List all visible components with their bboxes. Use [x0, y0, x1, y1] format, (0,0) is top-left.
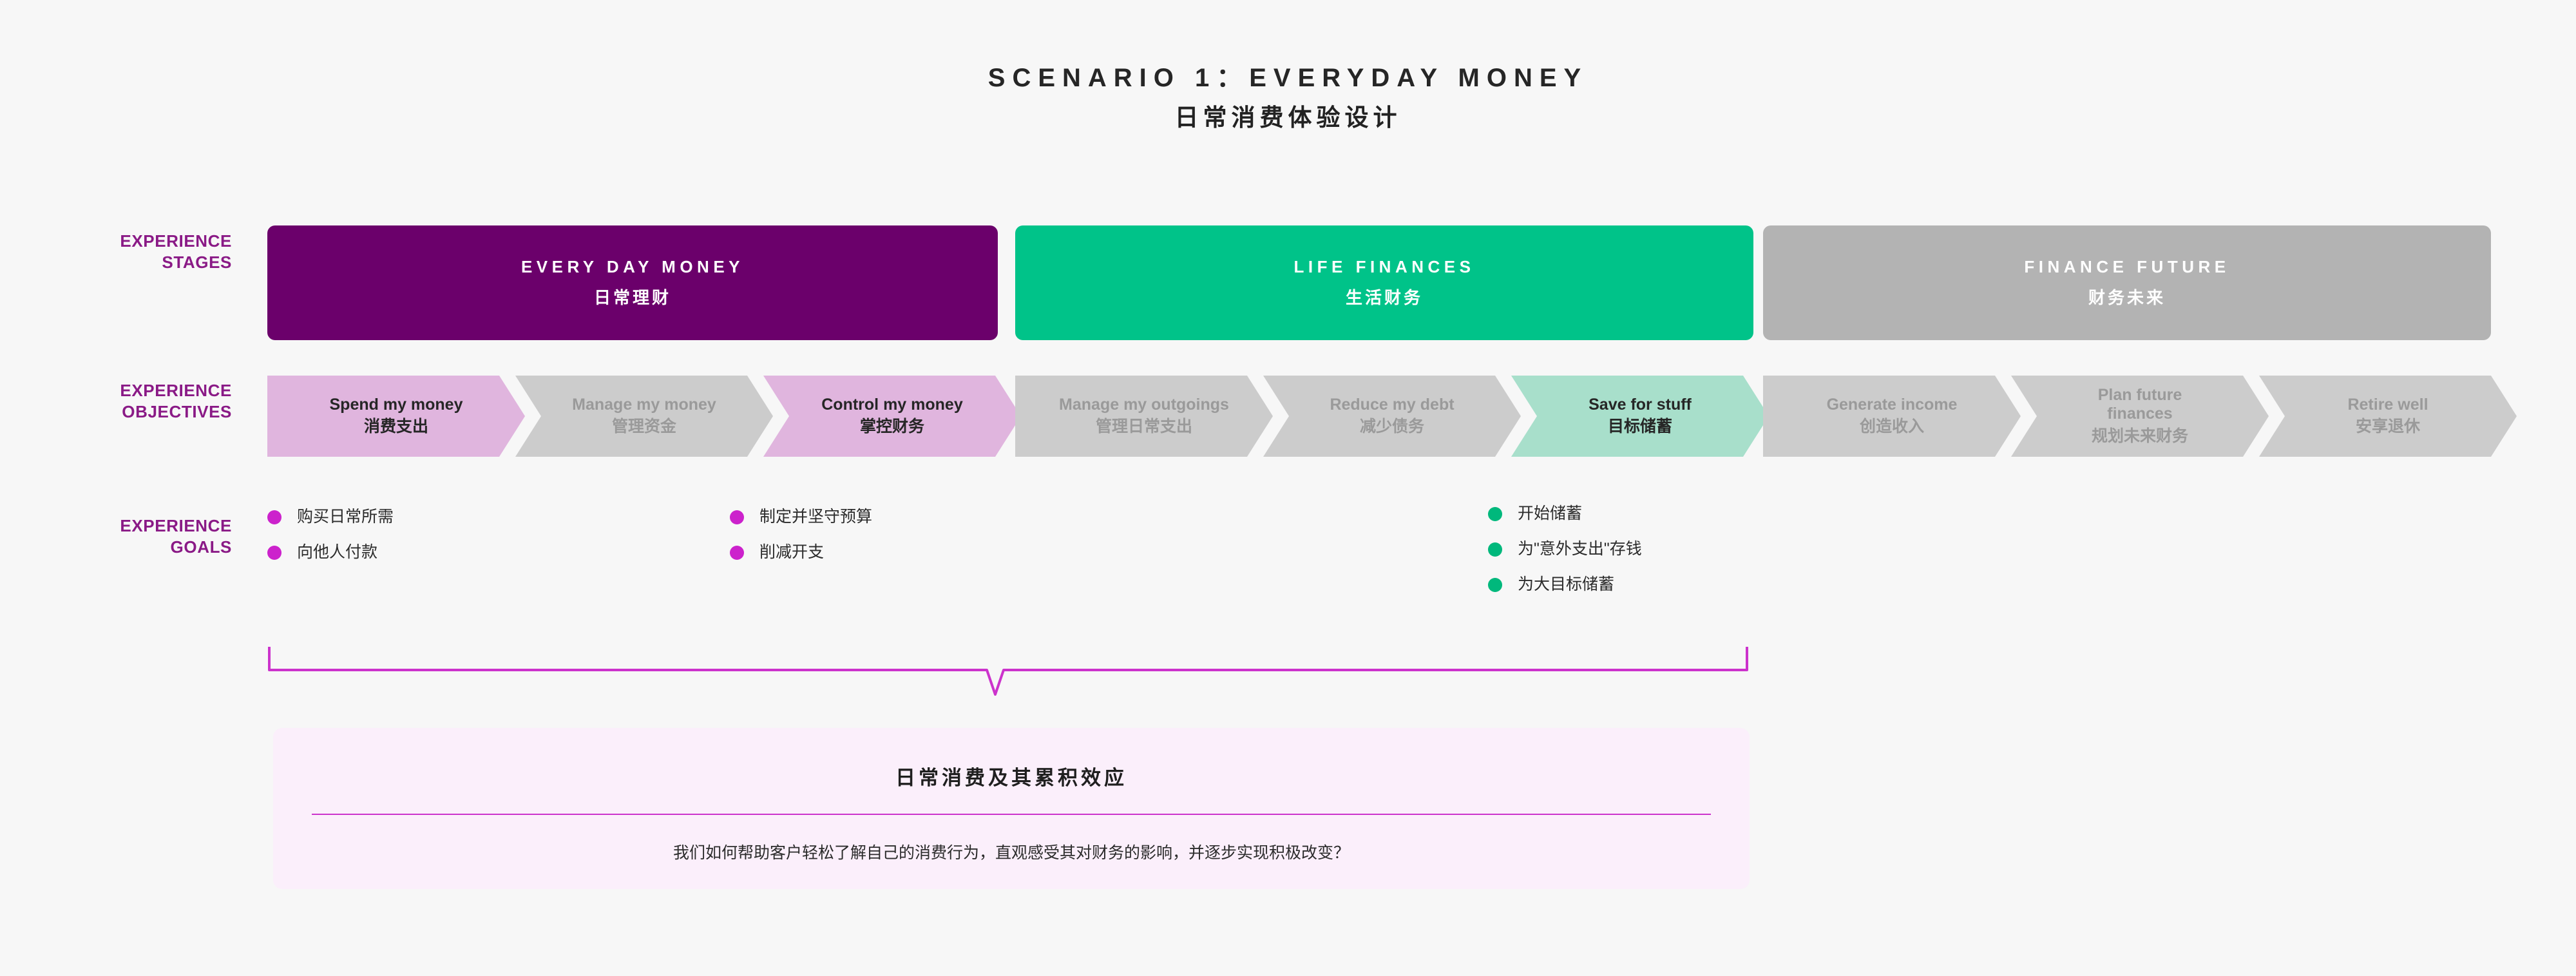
stage-bar-every-day-money[interactable]: EVERY DAY MONEY 日常理财	[267, 225, 998, 340]
goal-item[interactable]: 开始储蓄	[1488, 506, 1642, 522]
bracket-connector	[264, 644, 1759, 725]
callout-title: 日常消费及其累积效应	[312, 761, 1711, 790]
objective-label-en-4: Reduce my debt	[1330, 396, 1454, 415]
objective-label-cn-1: 管理资金	[612, 417, 676, 437]
goal-item[interactable]: 为大目标储蓄	[1488, 577, 1642, 593]
row-label-experience-goals: EXPERIENCE GOALS	[39, 515, 232, 558]
objective-chevron-control-my-money[interactable]: Control my money 掌控财务	[763, 376, 1021, 457]
stage-bar-life-finances[interactable]: LIFE FINANCES 生活财务	[1015, 225, 1753, 340]
objectives-row: Spend my money 消费支出 Manage my money 管理资金…	[0, 376, 2576, 457]
stage-label-en-0: EVERY DAY MONEY	[521, 257, 744, 277]
goal-bullet-icon	[267, 510, 281, 524]
goal-label: 向他人付款	[297, 544, 377, 560]
goal-item[interactable]: 购买日常所需	[267, 509, 394, 525]
objective-label-en-2: Control my money	[821, 396, 962, 415]
objective-label-en-3: Manage my outgoings	[1059, 396, 1229, 415]
goal-item[interactable]: 向他人付款	[267, 544, 394, 560]
objective-chevron-save-for-stuff[interactable]: Save for stuff 目标储蓄	[1511, 376, 1769, 457]
stage-label-cn-1: 生活财务	[1346, 285, 1423, 309]
page-title: SCENARIO 1：EVERYDAY MONEY 日常消费体验设计	[0, 62, 2576, 134]
goal-bullet-icon	[267, 546, 281, 560]
goal-bullet-icon	[1488, 542, 1502, 557]
stage-label-cn-0: 日常理财	[594, 285, 671, 309]
objective-label-cn-4: 减少债务	[1360, 417, 1424, 437]
objective-label-en-5: Save for stuff	[1589, 396, 1692, 415]
objective-label-cn-8: 安享退休	[2356, 417, 2420, 437]
goal-bullet-icon	[1488, 578, 1502, 592]
page-title-en: SCENARIO 1：EVERYDAY MONEY	[0, 62, 2576, 94]
stage-label-cn-2: 财务未来	[2088, 285, 2166, 309]
row-label-stages-line1: EXPERIENCE	[39, 231, 232, 252]
objective-chevron-plan-future-finances[interactable]: Plan future finances 规划未来财务	[2011, 376, 2269, 457]
row-label-experience-stages: EXPERIENCE STAGES	[39, 231, 232, 273]
callout-body: 我们如何帮助客户轻松了解自己的消费行为，直观感受其对财务的影响，并逐步实现积极改…	[312, 842, 1711, 865]
stage-label-en-1: LIFE FINANCES	[1294, 257, 1475, 277]
objective-chevron-spend-my-money[interactable]: Spend my money 消费支出	[267, 376, 525, 457]
objective-label-en-8: Retire well	[2347, 396, 2428, 415]
bracket-connector-icon	[264, 644, 1759, 722]
objective-chevron-manage-my-outgoings[interactable]: Manage my outgoings 管理日常支出	[1015, 376, 1273, 457]
goal-bullet-icon	[730, 546, 744, 560]
objective-label-en-6: Generate income	[1827, 396, 1958, 415]
objective-label-en-1: Manage my money	[572, 396, 716, 415]
goal-label: 为"意外支出"存钱	[1518, 541, 1642, 557]
objective-label-cn-5: 目标储蓄	[1608, 417, 1672, 437]
goal-label: 购买日常所需	[297, 509, 394, 525]
goal-item[interactable]: 制定并坚守预算	[730, 509, 872, 525]
goal-bullet-icon	[1488, 507, 1502, 521]
objective-label-cn-3: 管理日常支出	[1096, 417, 1192, 437]
goal-item[interactable]: 为"意外支出"存钱	[1488, 541, 1642, 557]
goals-column-2: 制定并坚守预算 削减开支	[730, 509, 872, 580]
objective-label-cn-7: 规划未来财务	[2092, 426, 2188, 446]
page-title-cn: 日常消费体验设计	[0, 102, 2576, 134]
goal-label: 为大目标储蓄	[1518, 577, 1614, 593]
journey-map-board: SCENARIO 1：EVERYDAY MONEY 日常消费体验设计 EXPER…	[0, 0, 2576, 976]
goal-bullet-icon	[730, 510, 744, 524]
objective-label-en-7: Plan future finances	[2066, 386, 2214, 424]
goal-label: 削减开支	[759, 544, 824, 560]
objective-label-cn-0: 消费支出	[364, 417, 428, 437]
objective-label-en-0: Spend my money	[330, 396, 463, 415]
objective-chevron-retire-well[interactable]: Retire well 安享退休	[2259, 376, 2517, 457]
goal-label: 制定并坚守预算	[759, 509, 872, 525]
goals-column-3: 开始储蓄 为"意外支出"存钱 为大目标储蓄	[1488, 506, 1642, 612]
goal-label: 开始储蓄	[1518, 506, 1582, 522]
callout-divider	[312, 814, 1711, 815]
stage-bar-finance-future[interactable]: FINANCE FUTURE 财务未来	[1763, 225, 2491, 340]
row-label-stages-line2: STAGES	[39, 252, 232, 273]
objective-label-cn-2: 掌控财务	[860, 417, 924, 437]
row-label-goals-line1: EXPERIENCE	[39, 515, 232, 537]
goals-column-1: 购买日常所需 向他人付款	[267, 509, 394, 580]
objective-label-cn-6: 创造收入	[1860, 417, 1924, 437]
objective-chevron-reduce-my-debt[interactable]: Reduce my debt 减少债务	[1263, 376, 1521, 457]
goal-item[interactable]: 削减开支	[730, 544, 872, 560]
row-label-goals-line2: GOALS	[39, 537, 232, 558]
stage-label-en-2: FINANCE FUTURE	[2024, 257, 2229, 277]
objective-chevron-manage-my-money[interactable]: Manage my money 管理资金	[515, 376, 773, 457]
callout-card: 日常消费及其累积效应 我们如何帮助客户轻松了解自己的消费行为，直观感受其对财务的…	[273, 728, 1750, 889]
objective-chevron-generate-income[interactable]: Generate income 创造收入	[1763, 376, 2021, 457]
